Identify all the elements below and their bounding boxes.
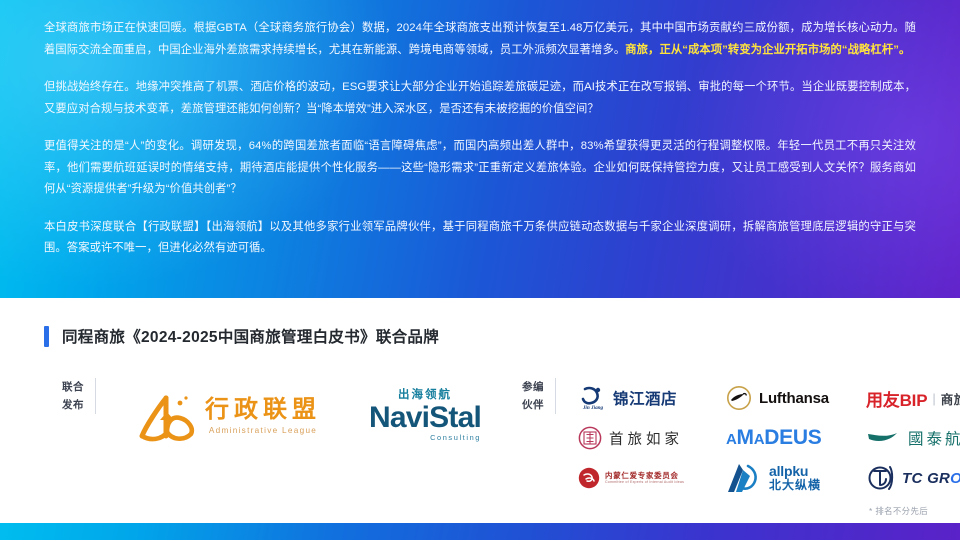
logo-yonyou-bip[interactable]: 用友BIP | 商旅云 [866,378,960,418]
joint-publishers-label-line2: 发布 [62,396,84,414]
title-accent-bar [44,326,49,347]
tc-group-label-a: TC GR [902,470,950,487]
tc-group-label-b: OUP [950,470,960,487]
joint-publisher-logos: 行政联盟 Administrative League 出海领航 NaviStal… [96,390,481,444]
brand-panel: 同程商旅《2024-2025中国商旅管理白皮书》联合品牌 联合 发布 [0,298,960,523]
jinjiang-swan-icon: Jin Jiang [578,384,608,412]
hero-paragraph-1-highlight: 商旅，正从“成本项”转变为企业开拓市场的“战略杠杆”。 [625,44,910,56]
contributing-partners-label-line2: 伙伴 [522,396,544,414]
logo-navistal[interactable]: 出海领航 NaviStal Consulting [369,390,481,444]
administrative-league-mark-icon [136,392,198,442]
shouqi-homeinns-seal-icon [578,426,602,450]
contributing-partners-label-line1: 参编 [522,378,544,396]
expert-committee-seal-icon [578,467,600,489]
hero-paragraph-4: 本白皮书深度联合【行政联盟】【出海领航】以及其他多家行业领军品牌伙伴，基于同程商… [44,217,916,260]
administrative-league-cn: 行政联盟 [205,398,321,422]
panel-title-row: 同程商旅《2024-2025中国商旅管理白皮书》联合品牌 [44,325,439,347]
joint-publishers-label-line1: 联合 [62,378,84,396]
joint-publishers-group: 联合 发布 行政联盟 Administrati [62,378,481,444]
expert-committee-cn: 内蒙仁爱专家委员会 [605,471,684,480]
yonyou-bip-divider: | [932,391,935,406]
whitepaper-slide: 全球商旅市场正在快速回暖。根据GBTA（全球商务旅行协会）数据，2024年全球商… [0,0,960,540]
navistal-sub: Consulting [430,433,481,442]
yonyou-bip-sublabel: 商旅云 [941,389,960,408]
allpku-en: allpku [769,464,808,479]
svg-text:Jin Jiang: Jin Jiang [582,405,604,411]
allpku-wordmark: allpku 北大纵横 [769,464,821,492]
shouqi-homeinns-label: 首旅如家 [609,428,683,449]
lufthansa-label: Lufthansa [759,390,829,407]
allpku-mark-icon [726,462,762,494]
navistal-en: NaviStal [369,403,481,433]
bottom-gradient-strip [0,523,960,540]
expert-committee-en: Committee of Experts of Internal Audit I… [605,480,684,485]
hero-paragraph-1: 全球商旅市场正在快速回暖。根据GBTA（全球商务旅行协会）数据，2024年全球商… [44,18,916,61]
cathay-brushwing-icon [866,430,900,446]
hero-gradient-section: 全球商旅市场正在快速回暖。根据GBTA（全球商务旅行协会）数据，2024年全球商… [0,0,960,298]
logo-shouqi-homeinns[interactable]: 首旅如家 [578,418,726,458]
jinjiang-hotels-label: 锦江酒店 [613,387,677,409]
partner-logo-grid: Jin Jiang 锦江酒店 Lufthansa 用友BIP | 商旅云 [556,378,960,498]
administrative-league-wordmark: 行政联盟 Administrative League [205,398,321,435]
logo-tc-group[interactable]: TC GROUP [866,458,960,498]
amadeus-label: aMaDEUS [726,426,821,450]
navistal-wordmark: NaviStal [369,402,481,433]
logo-administrative-league[interactable]: 行政联盟 Administrative League [136,392,321,442]
logo-allpku[interactable]: allpku 北大纵横 [726,458,866,498]
hero-paragraph-4-text: 本白皮书深度联合【行政联盟】【出海领航】以及其他多家行业领军品牌伙伴，基于同程商… [44,221,916,255]
navistal-cn: 出海领航 [398,390,452,402]
contributing-partners-label: 参编 伙伴 [522,378,556,414]
lufthansa-crane-icon [726,385,752,411]
hero-paragraph-3-text: 更值得关注的是“人”的变化。调研发现，64%的跨国差旅者面临“语言障碍焦虑”，而… [44,140,916,195]
logo-lufthansa[interactable]: Lufthansa [726,378,866,418]
cathay-pacific-label: 國泰航空 [908,427,960,449]
logo-expert-committee[interactable]: 内蒙仁爱专家委员会 Committee of Experts of Intern… [578,458,726,498]
logo-cathay-pacific[interactable]: 國泰航空 [866,418,960,458]
logo-jinjiang-hotels[interactable]: Jin Jiang 锦江酒店 [578,378,726,418]
hero-paragraph-3: 更值得关注的是“人”的变化。调研发现，64%的跨国差旅者面临“语言障碍焦虑”，而… [44,136,916,201]
ranking-footnote: * 排名不分先后 [869,505,928,517]
tc-group-label: TC GROUP [902,470,960,487]
yonyou-bip-label: 用友BIP [866,386,927,411]
contributing-partners-group: 参编 伙伴 Jin Jiang 锦江酒店 [522,378,960,498]
expert-committee-wordmark: 内蒙仁爱专家委员会 Committee of Experts of Intern… [605,471,684,485]
hero-paragraph-2-text: 但挑战始终存在。地缘冲突推高了机票、酒店价格的波动，ESG要求让大部分企业开始追… [44,81,916,115]
joint-publishers-label: 联合 发布 [62,378,96,414]
page-title: 同程商旅《2024-2025中国商旅管理白皮书》联合品牌 [62,325,439,347]
tc-group-mark-icon [866,464,894,492]
hero-paragraph-2: 但挑战始终存在。地缘冲突推高了机票、酒店价格的波动，ESG要求让大部分企业开始追… [44,77,916,120]
hero-body-copy: 全球商旅市场正在快速回暖。根据GBTA（全球商务旅行协会）数据，2024年全球商… [44,18,916,260]
logo-amadeus[interactable]: aMaDEUS [726,418,866,458]
allpku-cn: 北大纵横 [769,479,821,492]
administrative-league-en: Administrative League [209,426,317,435]
